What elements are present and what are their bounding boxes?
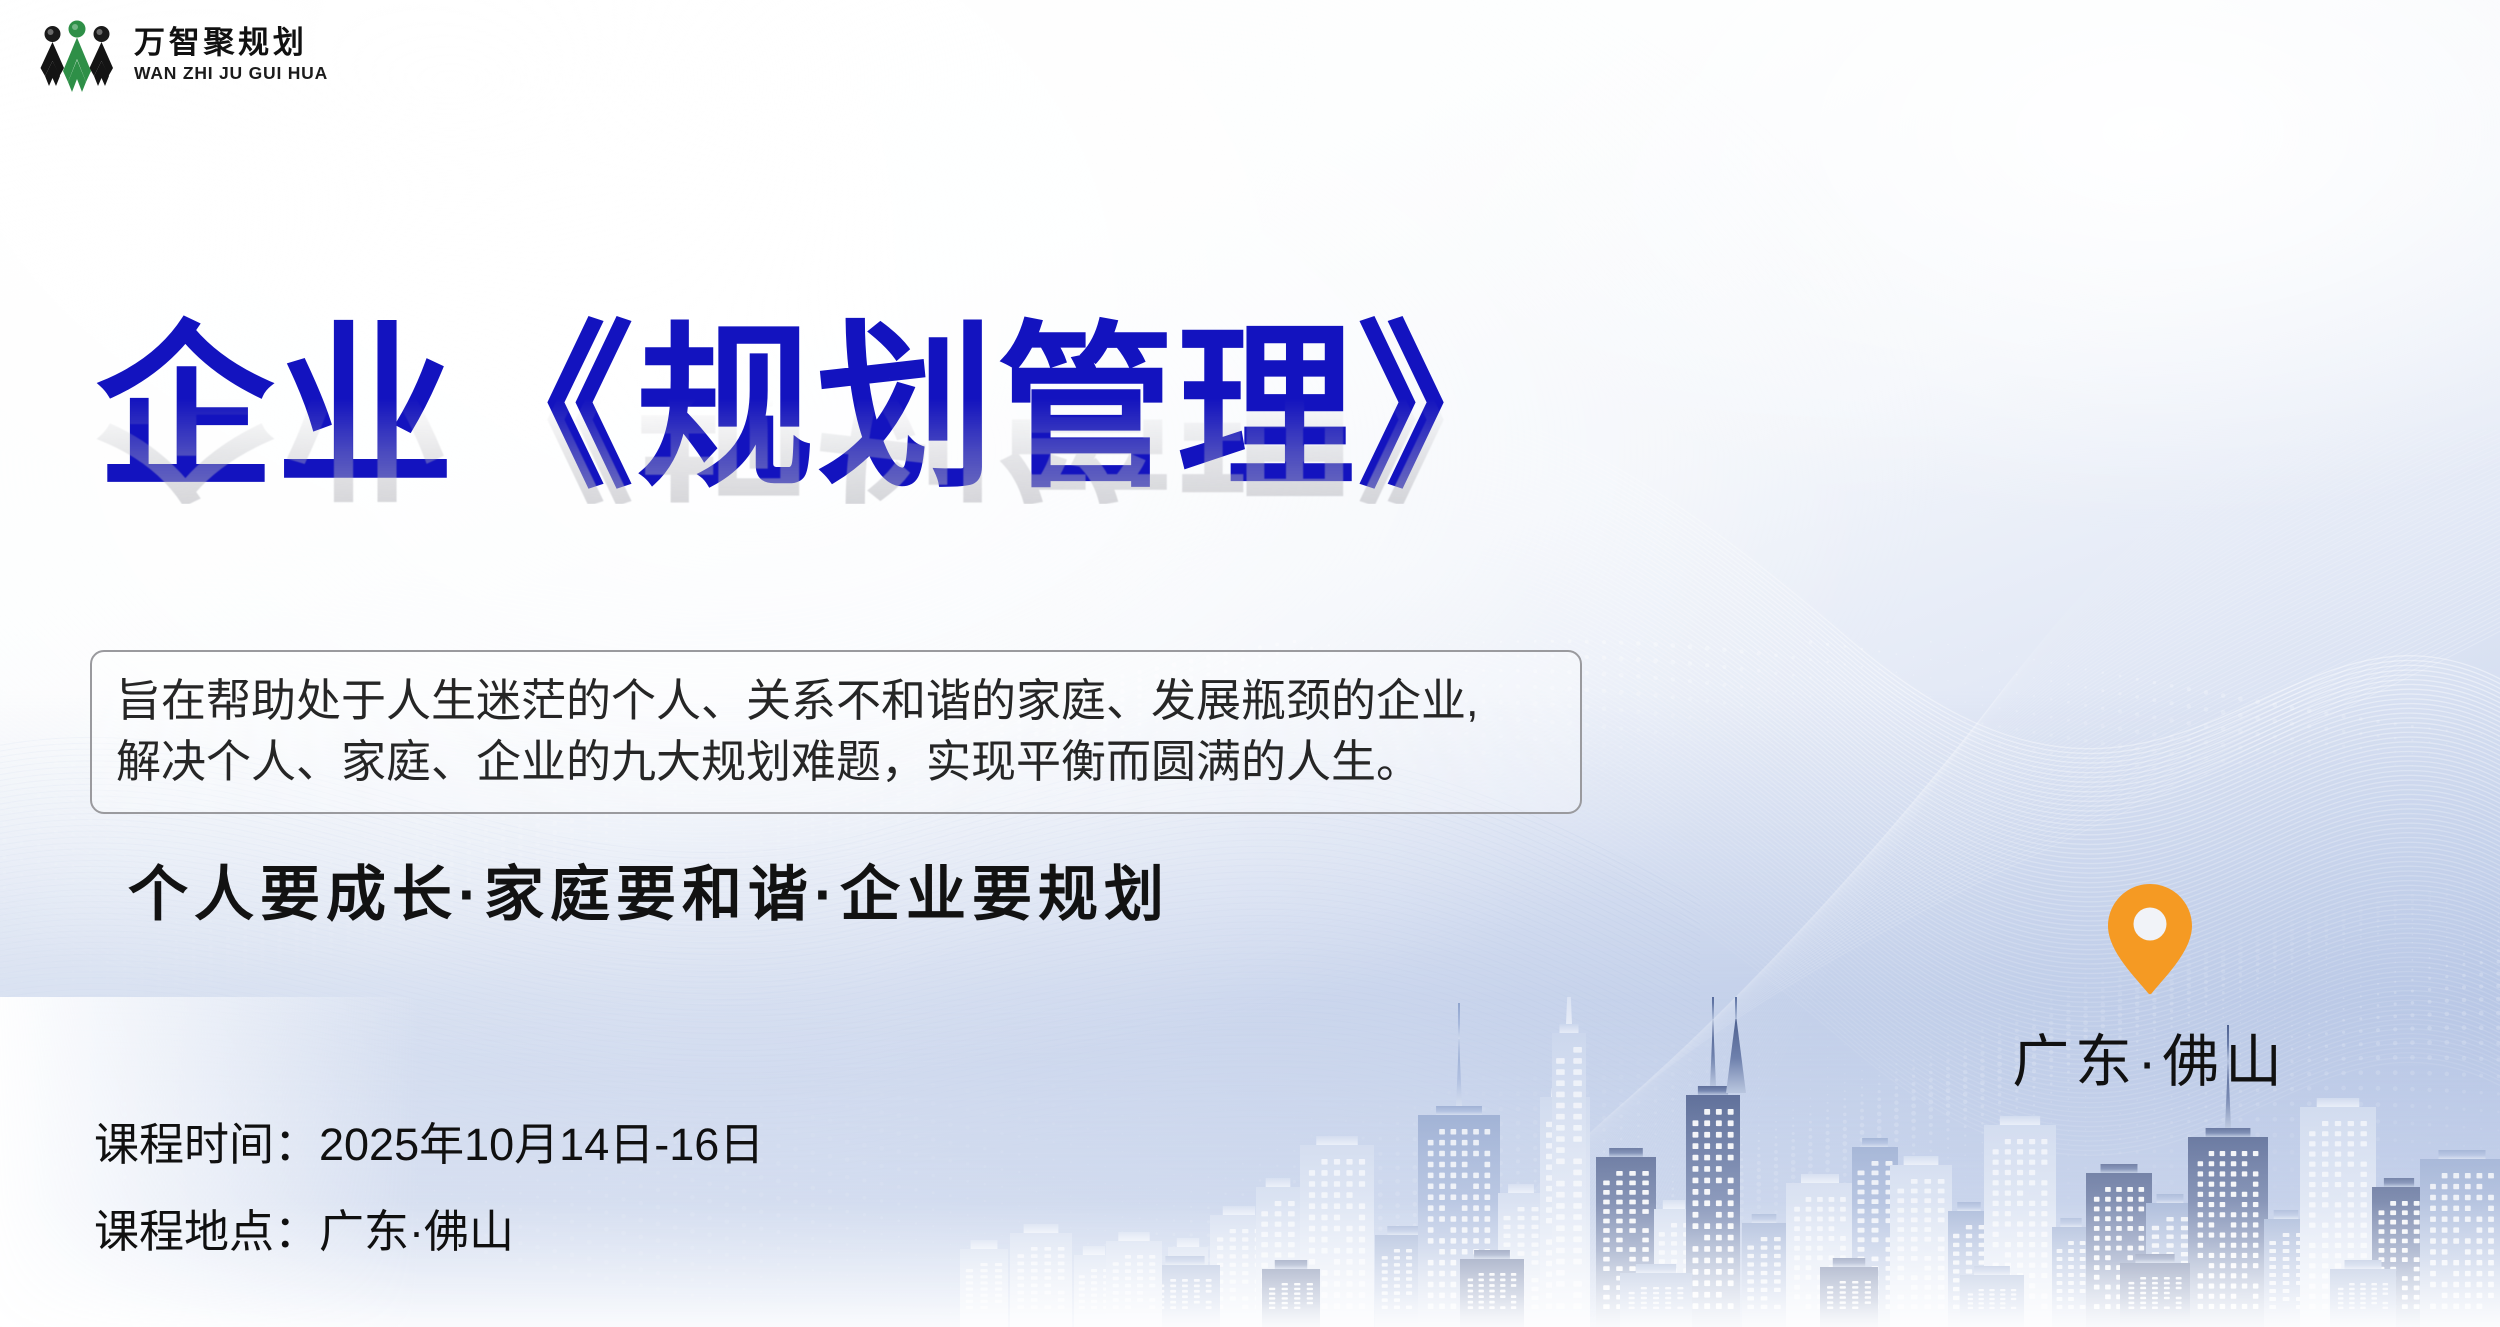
three-people-logo-icon	[34, 16, 120, 94]
poster-canvas: 万智聚规划 WAN ZHI JU GUI HUA 企业《规划管理》 企业《规划管…	[0, 0, 2500, 1327]
slogan-text: 个人要成长·家庭要和谐·企业要规划	[128, 846, 1170, 933]
course-time-line: 课程时间：2025年10月14日-16日	[94, 1122, 764, 1167]
title-block: 企业《规划管理》 企业《规划管理》	[96, 318, 1656, 612]
course-info-block: 课程时间：2025年10月14日-16日 课程地点：广东·佛山	[94, 1122, 764, 1254]
description-line-1: 旨在帮助处于人生迷茫的个人、关系不和谐的家庭、发展瓶颈的企业,	[116, 670, 1558, 731]
location-block: 广东·佛山	[1960, 880, 2340, 1098]
logo-name-en: WAN ZHI JU GUI HUA	[134, 63, 328, 84]
title-reflection: 企业《规划管理》	[96, 396, 1656, 504]
course-place-line: 课程地点：广东·佛山	[94, 1209, 764, 1254]
description-line-2: 解决个人、家庭、企业的九大规划难题，实现平衡而圆满的人生。	[116, 731, 1558, 792]
map-pin-icon	[2104, 880, 2196, 998]
logo-name-cn: 万智聚规划	[134, 26, 328, 62]
brand-logo[interactable]: 万智聚规划 WAN ZHI JU GUI HUA	[34, 16, 328, 94]
description-box: 旨在帮助处于人生迷茫的个人、关系不和谐的家庭、发展瓶颈的企业, 解决个人、家庭、…	[90, 650, 1582, 814]
location-city-label: 广东·佛山	[1960, 1016, 2340, 1098]
